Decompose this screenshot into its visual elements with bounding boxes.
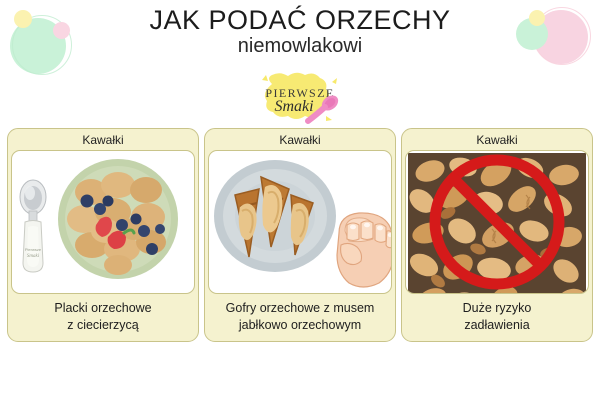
card-art xyxy=(406,151,588,293)
card-caption-line2: jabłkowo orzechowym xyxy=(210,317,390,334)
card-media-whole-nuts xyxy=(405,150,589,294)
card-header-label: Kawałki xyxy=(208,132,392,150)
baby-spoon-icon: Pierwsze Smaki xyxy=(16,175,50,275)
card-caption-line1: Duże ryzyko xyxy=(407,300,587,317)
card-art: Pierwsze Smaki xyxy=(12,151,194,293)
brand-logo: PIERWSZE Smaki xyxy=(242,72,358,124)
card-whole-nuts[interactable]: Kawałki xyxy=(401,128,593,342)
svg-text:Smaki: Smaki xyxy=(27,254,40,259)
card-caption-line1: Placki orzechowe xyxy=(13,300,193,317)
page-title: JAK PODAĆ ORZECHY xyxy=(0,6,600,34)
mini-pancakes-plate-photo xyxy=(56,157,180,281)
card-pancakes[interactable]: Kawałki Pierwsze Smaki xyxy=(7,128,199,342)
card-art xyxy=(209,151,391,293)
card-media-waffles xyxy=(208,150,392,294)
card-caption: Placki orzechowe z ciecierzycą xyxy=(11,294,195,338)
header: JAK PODAĆ ORZECHY niemowlakowi xyxy=(0,6,600,57)
peanut-butter-waffles-plate-photo xyxy=(213,159,337,273)
cards-row: Kawałki Pierwsze Smaki xyxy=(7,128,593,342)
brand-logo-line2: Smaki xyxy=(274,98,313,115)
card-caption-line2: zadławienia xyxy=(407,317,587,334)
card-caption-line1: Gofry orzechowe z musem xyxy=(210,300,390,317)
card-waffles[interactable]: Kawałki xyxy=(204,128,396,342)
baby-fist-icon xyxy=(323,203,392,291)
card-header-label: Kawałki xyxy=(11,132,195,150)
prohibition-no-sign-icon xyxy=(426,151,568,293)
card-caption-line2: z ciecierzycą xyxy=(13,317,193,334)
svg-text:Pierwsze: Pierwsze xyxy=(25,247,42,252)
card-caption: Gofry orzechowe z musem jabłkowo orzecho… xyxy=(208,294,392,338)
card-header-label: Kawałki xyxy=(405,132,589,150)
card-caption: Duże ryzyko zadławienia xyxy=(405,294,589,338)
page-subtitle: niemowlakowi xyxy=(0,36,600,57)
brand-logo-icon: PIERWSZE Smaki xyxy=(242,72,358,124)
card-media-pancakes: Pierwsze Smaki xyxy=(11,150,195,294)
